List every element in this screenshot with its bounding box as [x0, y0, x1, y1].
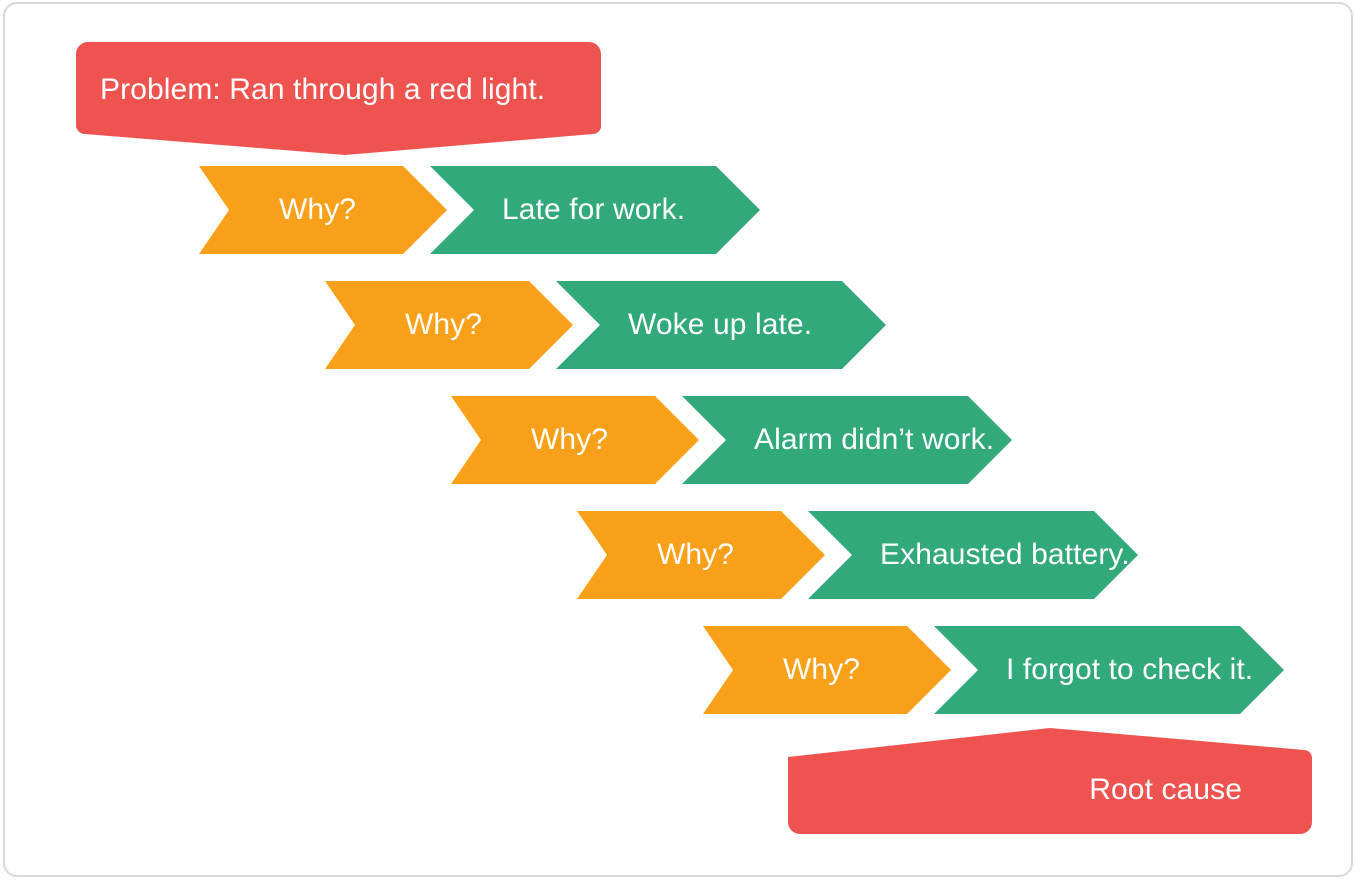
why-answer-5[interactable]: I forgot to check it.: [934, 626, 1253, 714]
why-question-label-4: Why?: [577, 538, 734, 572]
diagram-canvas: Problem: Ran through a red light. Why? L…: [0, 0, 1356, 880]
why-answer-label-2: Woke up late.: [556, 308, 812, 342]
why-answer-4[interactable]: Exhausted battery.: [808, 511, 1130, 599]
why-question-3[interactable]: Why?: [451, 396, 608, 484]
why-question-label-1: Why?: [199, 193, 356, 227]
why-question-1[interactable]: Why?: [199, 166, 356, 254]
why-answer-label-3: Alarm didn’t work.: [682, 423, 994, 457]
why-answer-3[interactable]: Alarm didn’t work.: [682, 396, 994, 484]
root-cause-banner[interactable]: Root cause: [788, 728, 1312, 834]
problem-banner[interactable]: Problem: Ran through a red light.: [76, 42, 601, 156]
why-question-4[interactable]: Why?: [577, 511, 734, 599]
why-question-label-3: Why?: [451, 423, 608, 457]
why-answer-1[interactable]: Late for work.: [430, 166, 685, 254]
why-question-5[interactable]: Why?: [703, 626, 860, 714]
why-answer-label-1: Late for work.: [430, 193, 685, 227]
why-question-2[interactable]: Why?: [325, 281, 482, 369]
problem-label: Problem: Ran through a red light.: [76, 73, 545, 107]
why-answer-2[interactable]: Woke up late.: [556, 281, 812, 369]
why-answer-label-5: I forgot to check it.: [934, 653, 1253, 687]
diagram-layer: Problem: Ran through a red light. Why? L…: [0, 0, 1356, 880]
why-answer-label-4: Exhausted battery.: [808, 538, 1130, 572]
why-question-label-2: Why?: [325, 308, 482, 342]
why-question-label-5: Why?: [703, 653, 860, 687]
root-cause-label: Root cause: [1089, 773, 1312, 807]
